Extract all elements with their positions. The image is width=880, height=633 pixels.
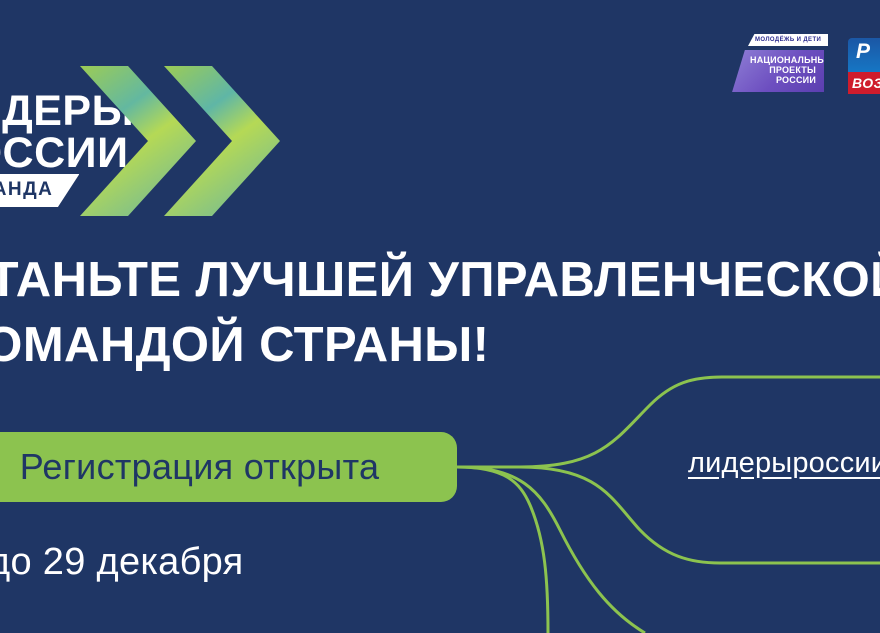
national-projects-body: НАЦИОНАЛЬНЫЕ ПРОЕКТЫ РОССИИ	[732, 50, 824, 92]
rsv-logo: Р ВОЗМОЖНОСТЕЙ	[848, 38, 880, 100]
national-projects-tag: МОЛОДЁЖЬ И ДЕТИ	[748, 34, 828, 46]
rsv-logo-bottom: ВОЗМОЖНОСТЕЙ	[848, 72, 880, 94]
national-projects-logo: МОЛОДЁЖЬ И ДЕТИ НАЦИОНАЛЬНЫЕ ПРОЕКТЫ РОС…	[726, 32, 834, 110]
registration-open-button[interactable]: Регистрация открыта	[0, 432, 457, 502]
national-projects-line3: РОССИИ	[750, 75, 816, 85]
national-projects-line1: НАЦИОНАЛЬНЫЕ	[750, 55, 816, 65]
registration-open-label: Регистрация открыта	[20, 446, 380, 488]
headline-line-1: СТАНЬТЕ ЛУЧШЕЙ УПРАВЛЕНЧЕСКОЙ	[0, 248, 880, 313]
rsv-logo-top: Р	[848, 38, 880, 72]
double-chevron-right-icon	[80, 62, 280, 220]
rsv-logo-letter: Р	[856, 40, 870, 64]
website-link[interactable]: лидерыроссии.рф	[688, 447, 880, 480]
leaders-of-russia-logo: ЛИДЕРЫ РОССИИ КОМАНДА	[0, 62, 280, 220]
rsv-logo-word: ВОЗМОЖНОСТЕЙ	[852, 75, 880, 91]
headline: СТАНЬТЕ ЛУЧШЕЙ УПРАВЛЕНЧЕСКОЙ КОМАНДОЙ С…	[0, 248, 880, 377]
national-projects-line2: ПРОЕКТЫ	[750, 65, 816, 75]
promo-banner: ЛИДЕРЫ РОССИИ КОМАНДА	[0, 0, 880, 633]
deadline-date: до 29 декабря	[0, 541, 244, 584]
logo-team-badge: КОМАНДА	[0, 174, 79, 207]
headline-line-2: КОМАНДОЙ СТРАНЫ!	[0, 313, 880, 378]
